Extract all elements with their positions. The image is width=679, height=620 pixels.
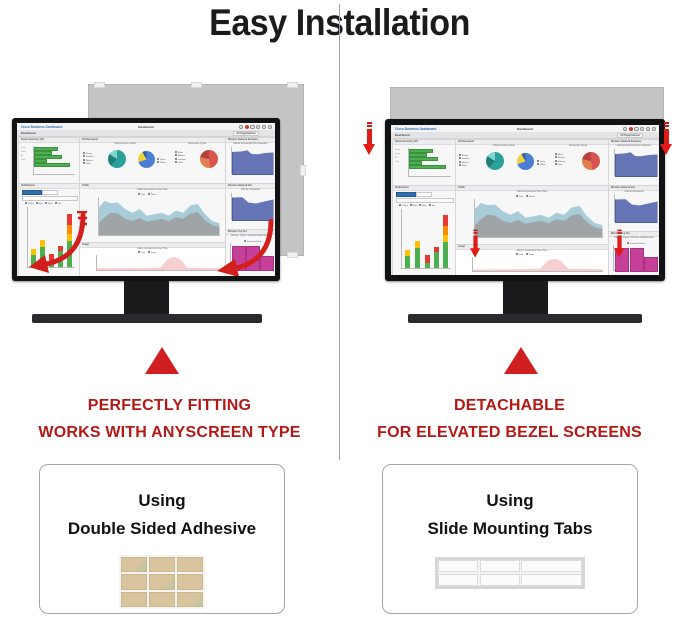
x-axis bbox=[96, 270, 220, 271]
card-title: Connection Types bbox=[172, 143, 222, 145]
pie-chart-c bbox=[200, 150, 218, 168]
y-axis bbox=[231, 193, 232, 219]
legend-item: Info bbox=[429, 204, 435, 207]
infobox-line2: Double Sided Adhesive bbox=[40, 519, 284, 539]
pie-legend: Online Offline bbox=[537, 160, 545, 167]
arrow-head bbox=[614, 248, 624, 257]
gear-icon[interactable] bbox=[262, 125, 266, 129]
card-device-inventory[interactable]: Device Inventory (27) Router Switch AP bbox=[392, 139, 456, 186]
legend-item: Minor bbox=[45, 202, 53, 205]
x-axis bbox=[33, 174, 75, 175]
pie-legend: Routers Switches Wireless Other bbox=[83, 152, 93, 166]
curved-arrow-down-right-icon bbox=[213, 219, 275, 276]
straight-arrow-down-right-icon bbox=[660, 122, 673, 156]
legend-item: Other bbox=[555, 163, 566, 166]
card-header-label: Notifications bbox=[395, 187, 409, 189]
card-header-label: Wireless Network Info bbox=[611, 187, 635, 189]
infobox-line2: Slide Mounting Tabs bbox=[383, 519, 637, 539]
card-header-label: Usage bbox=[458, 246, 465, 248]
slide-tab bbox=[521, 560, 582, 572]
arrow-dash bbox=[664, 122, 669, 124]
help-icon[interactable] bbox=[623, 127, 627, 131]
chart-legend: Total Usage bbox=[138, 251, 156, 254]
card-title: Clients Connected Over Selection bbox=[226, 143, 275, 145]
pie-legend: Wired Wireless Unknown Other bbox=[555, 153, 566, 167]
monitor-screen: Cisco Business Dashboard Dashboard Da bbox=[17, 123, 275, 276]
adhesive-pad bbox=[121, 592, 147, 607]
card-header: Device Inventory (27) bbox=[393, 140, 455, 145]
caption-line1: PERFECTLY FITTING bbox=[0, 397, 339, 415]
infobox-slide-tabs: Using Slide Mounting Tabs bbox=[382, 464, 638, 614]
legend-item: Offline bbox=[537, 163, 545, 166]
stacked-bar bbox=[443, 215, 448, 268]
adhesive-pad bbox=[177, 592, 203, 607]
legend-item: Critical bbox=[25, 202, 34, 205]
notification-icon[interactable] bbox=[250, 125, 254, 129]
arrow-head bbox=[363, 144, 375, 155]
legend-item: Clients bbox=[148, 193, 157, 196]
slide-tab-grid bbox=[438, 560, 582, 586]
x-axis bbox=[98, 235, 220, 236]
filter-select[interactable] bbox=[22, 196, 78, 201]
legend-item: Critical bbox=[399, 204, 408, 207]
axis-tick: Switch bbox=[21, 151, 26, 153]
slide-tab bbox=[480, 574, 520, 586]
card-title: Total Inventory Count bbox=[478, 145, 530, 147]
card-title: Connection Types bbox=[552, 145, 604, 147]
card-title: Client Connections Over Time bbox=[80, 248, 225, 250]
logout-icon[interactable] bbox=[268, 125, 272, 129]
card-header: Notifications bbox=[393, 186, 455, 191]
subbar-label: Dashboard bbox=[21, 131, 36, 135]
x-axis bbox=[401, 268, 451, 269]
user-icon[interactable] bbox=[640, 127, 644, 131]
slide-mounting-tabs-image bbox=[435, 557, 585, 589]
card-header-label: Wireless Network Summary bbox=[228, 139, 258, 141]
caption-line2: WORKS WITH ANYSCREEN TYPE bbox=[0, 424, 339, 442]
arrow-head bbox=[470, 248, 480, 257]
area-series-pink bbox=[473, 258, 603, 271]
card-header-label: Device Inventory (27) bbox=[395, 141, 418, 143]
monitor-screen: Cisco Business Dashboard Dashboard Da bbox=[391, 125, 659, 275]
card-title: Clients Connected bbox=[226, 189, 275, 191]
slide-tab bbox=[521, 574, 582, 586]
card-wireless-info[interactable]: Wireless Network Info Clients Connected bbox=[608, 185, 659, 232]
caption-line1: DETACHABLE bbox=[340, 397, 679, 415]
axis-tick: Router bbox=[395, 149, 400, 151]
card-title: Clients Connected bbox=[609, 191, 659, 193]
card-title: Total Inventory Count bbox=[100, 143, 150, 145]
axis-tick: Switch bbox=[395, 153, 400, 155]
card-header-label: All Discovered bbox=[458, 141, 474, 143]
area-series-pink bbox=[97, 256, 220, 270]
adhesive-pad bbox=[149, 557, 175, 572]
logout-icon[interactable] bbox=[652, 127, 656, 131]
axis-tick: Other bbox=[21, 159, 25, 161]
card-header-label: All Discovered bbox=[82, 139, 98, 141]
pie-chart-b bbox=[517, 153, 534, 170]
legend-item: Offline bbox=[157, 161, 165, 164]
monitor-neck bbox=[124, 281, 169, 317]
triangle-up-icon bbox=[145, 347, 179, 374]
area-series bbox=[615, 152, 658, 177]
y-axis bbox=[401, 209, 402, 268]
triangle-up-icon bbox=[504, 347, 538, 374]
dashboard-header-icons[interactable] bbox=[623, 127, 656, 131]
monitor-base bbox=[408, 314, 642, 323]
pie-legend: Wired Wireless Unknown Other bbox=[175, 151, 186, 165]
chart-legend: Total Clients bbox=[138, 193, 157, 196]
stacked-bar bbox=[425, 255, 430, 268]
arrow-dash bbox=[473, 232, 477, 233]
arrow-dash bbox=[617, 230, 621, 231]
alert-icon[interactable] bbox=[629, 127, 633, 131]
bar bbox=[34, 163, 70, 167]
legend-item: Major bbox=[36, 202, 44, 205]
card-header-label: Wireless Network Info bbox=[228, 185, 252, 187]
stacked-bar bbox=[405, 250, 410, 268]
adhesive-pad bbox=[149, 574, 175, 589]
adhesive-pad bbox=[121, 574, 147, 589]
bar bbox=[409, 165, 446, 169]
chart-legend: Critical Major Minor Info bbox=[399, 204, 435, 207]
axis-tick: Other bbox=[395, 161, 399, 163]
dashboard-header-title: Dashboard bbox=[391, 127, 659, 131]
dashboard-header-icons[interactable] bbox=[239, 125, 272, 129]
curved-arrow-down-left-icon bbox=[25, 211, 87, 273]
area-series bbox=[232, 150, 274, 175]
dashboard-tab-button[interactable] bbox=[396, 192, 416, 197]
infobox-adhesive: Using Double Sided Adhesive bbox=[39, 464, 285, 614]
card-header: Device Inventory (27) bbox=[19, 138, 79, 143]
adhesive-pad bbox=[121, 557, 147, 572]
x-axis bbox=[408, 176, 451, 177]
y-axis bbox=[614, 149, 615, 175]
filter-select[interactable] bbox=[396, 198, 454, 203]
legend-item: Connected Clients bbox=[627, 242, 645, 245]
area-series bbox=[615, 198, 658, 223]
dashboard-header-title: Dashboard bbox=[17, 125, 275, 129]
axis-tick: AP bbox=[395, 157, 397, 159]
card-wireless-summary[interactable]: Wireless Network Summary Clients Connect… bbox=[225, 137, 275, 184]
legend-item: Info bbox=[55, 202, 61, 205]
adhesive-pad bbox=[177, 574, 203, 589]
card-header-label: Traffic bbox=[458, 187, 465, 189]
y-axis bbox=[231, 147, 232, 173]
card-header-label: Wireless Network Summary bbox=[611, 141, 641, 143]
panel-left: Cisco Business Dashboard Dashboard Da bbox=[0, 0, 339, 620]
card-title: Client Connections Over Time bbox=[456, 191, 608, 193]
y-axis bbox=[98, 197, 99, 235]
adhesive-pads-image bbox=[119, 555, 205, 609]
pie-legend: Routers Switches Wireless Other bbox=[459, 154, 469, 168]
bar bbox=[644, 257, 658, 272]
stacked-bar bbox=[415, 241, 420, 268]
adhesive-pad bbox=[149, 592, 175, 607]
straight-arrow-down-inner-right-icon bbox=[614, 230, 625, 259]
user-icon[interactable] bbox=[256, 125, 260, 129]
y-axis bbox=[472, 257, 473, 271]
straight-arrow-down-left-icon bbox=[363, 122, 376, 156]
legend-item: Usage bbox=[148, 251, 156, 254]
filter-tab-icon bbox=[94, 82, 105, 88]
legend-item: Total bbox=[138, 251, 145, 254]
slide-tab bbox=[438, 560, 478, 572]
filter-tab-icon bbox=[287, 82, 298, 88]
card-notifications[interactable]: Notifications Critical Major Minor Info bbox=[392, 185, 456, 275]
pie-chart-a bbox=[108, 150, 126, 168]
x-axis bbox=[472, 271, 603, 272]
filter-tab-icon bbox=[287, 252, 298, 258]
chart-legend: Total Usage bbox=[516, 253, 534, 256]
chart-legend: Connected Clients bbox=[627, 242, 645, 245]
help-icon[interactable] bbox=[239, 125, 243, 129]
card-inventory-pies[interactable]: All Discovered Total Inventory Count Con… bbox=[455, 139, 609, 186]
arrow-dash bbox=[664, 125, 669, 127]
axis-tick: Router bbox=[21, 147, 26, 149]
card-title: Clients Connected Over Selection bbox=[609, 145, 659, 147]
chart-legend: Critical Major Minor Info bbox=[25, 202, 61, 205]
report-button[interactable] bbox=[42, 190, 58, 195]
stacked-bar bbox=[434, 247, 439, 268]
card-wireless-summary[interactable]: Wireless Network Summary Clients Connect… bbox=[608, 139, 659, 186]
pie-chart-a bbox=[486, 152, 504, 170]
gear-icon[interactable] bbox=[646, 127, 650, 131]
notification-icon[interactable] bbox=[634, 127, 638, 131]
infobox-line1: Using bbox=[40, 491, 284, 511]
pie-legend: Online Offline bbox=[157, 158, 165, 165]
chart-legend: Total Clients bbox=[516, 195, 535, 198]
x-axis bbox=[474, 237, 603, 238]
arrow-head bbox=[660, 144, 672, 155]
area-series bbox=[232, 196, 274, 221]
legend-item: Usage bbox=[526, 253, 534, 256]
arrow-dash bbox=[473, 230, 477, 231]
card-title: Client Connections Over Time bbox=[80, 189, 225, 191]
infobox-line1: Using bbox=[383, 491, 637, 511]
filter-tab-icon bbox=[300, 165, 306, 176]
pie-chart-c bbox=[582, 152, 600, 170]
card-header-label: Notifications bbox=[21, 185, 35, 187]
panel-right: Cisco Business Dashboard Dashboard Da bbox=[340, 0, 679, 620]
caption-line2: FOR ELEVATED BEZEL SCREENS bbox=[340, 424, 679, 442]
slide-tab bbox=[480, 560, 520, 572]
y-axis bbox=[96, 255, 97, 270]
card-usage[interactable]: Usage Client Connections Over Time Total… bbox=[79, 242, 226, 276]
legend-item: Total bbox=[516, 195, 523, 198]
straight-arrow-down-inner-left-icon bbox=[470, 230, 481, 259]
bar bbox=[630, 248, 644, 272]
adhesive-pad bbox=[177, 557, 203, 572]
axis-tick: AP bbox=[21, 155, 23, 157]
subbar-label: Dashboard bbox=[395, 133, 410, 137]
legend-item: Clients bbox=[526, 195, 535, 198]
legend-item: Minor bbox=[419, 204, 427, 207]
card-header: Notifications bbox=[19, 184, 79, 189]
card-header-label: Traffic bbox=[82, 185, 89, 187]
monitor-base bbox=[32, 314, 262, 323]
card-inventory-pies[interactable]: All Discovered Total Inventory Count Con… bbox=[79, 137, 226, 184]
poster-root: Easy Installation Cisco Business Dashboa… bbox=[0, 0, 679, 620]
arrow-dash bbox=[617, 232, 621, 233]
legend-item: Major bbox=[410, 204, 418, 207]
arrow-dash bbox=[367, 122, 372, 124]
report-button[interactable] bbox=[416, 192, 432, 197]
legend-item: Other bbox=[83, 162, 93, 165]
dashboard-tab-button[interactable] bbox=[22, 190, 42, 195]
card-device-inventory[interactable]: Device Inventory (27) Router Switch AP bbox=[18, 137, 80, 184]
alert-icon[interactable] bbox=[245, 125, 249, 129]
y-axis bbox=[614, 195, 615, 221]
arrow-dash bbox=[367, 125, 372, 127]
pie-chart-b bbox=[138, 151, 155, 168]
legend-item: Other bbox=[459, 164, 469, 167]
card-header-label: Device Inventory (27) bbox=[21, 139, 44, 141]
filter-tab-icon bbox=[191, 82, 202, 88]
monitor-neck bbox=[503, 281, 548, 317]
slide-tab bbox=[438, 574, 478, 586]
legend-item: Total bbox=[516, 253, 523, 256]
card-traffic[interactable]: Traffic Client Connections Over Time Tot… bbox=[79, 183, 226, 243]
legend-item: Other bbox=[175, 161, 186, 164]
legend-item: Total bbox=[138, 193, 145, 196]
